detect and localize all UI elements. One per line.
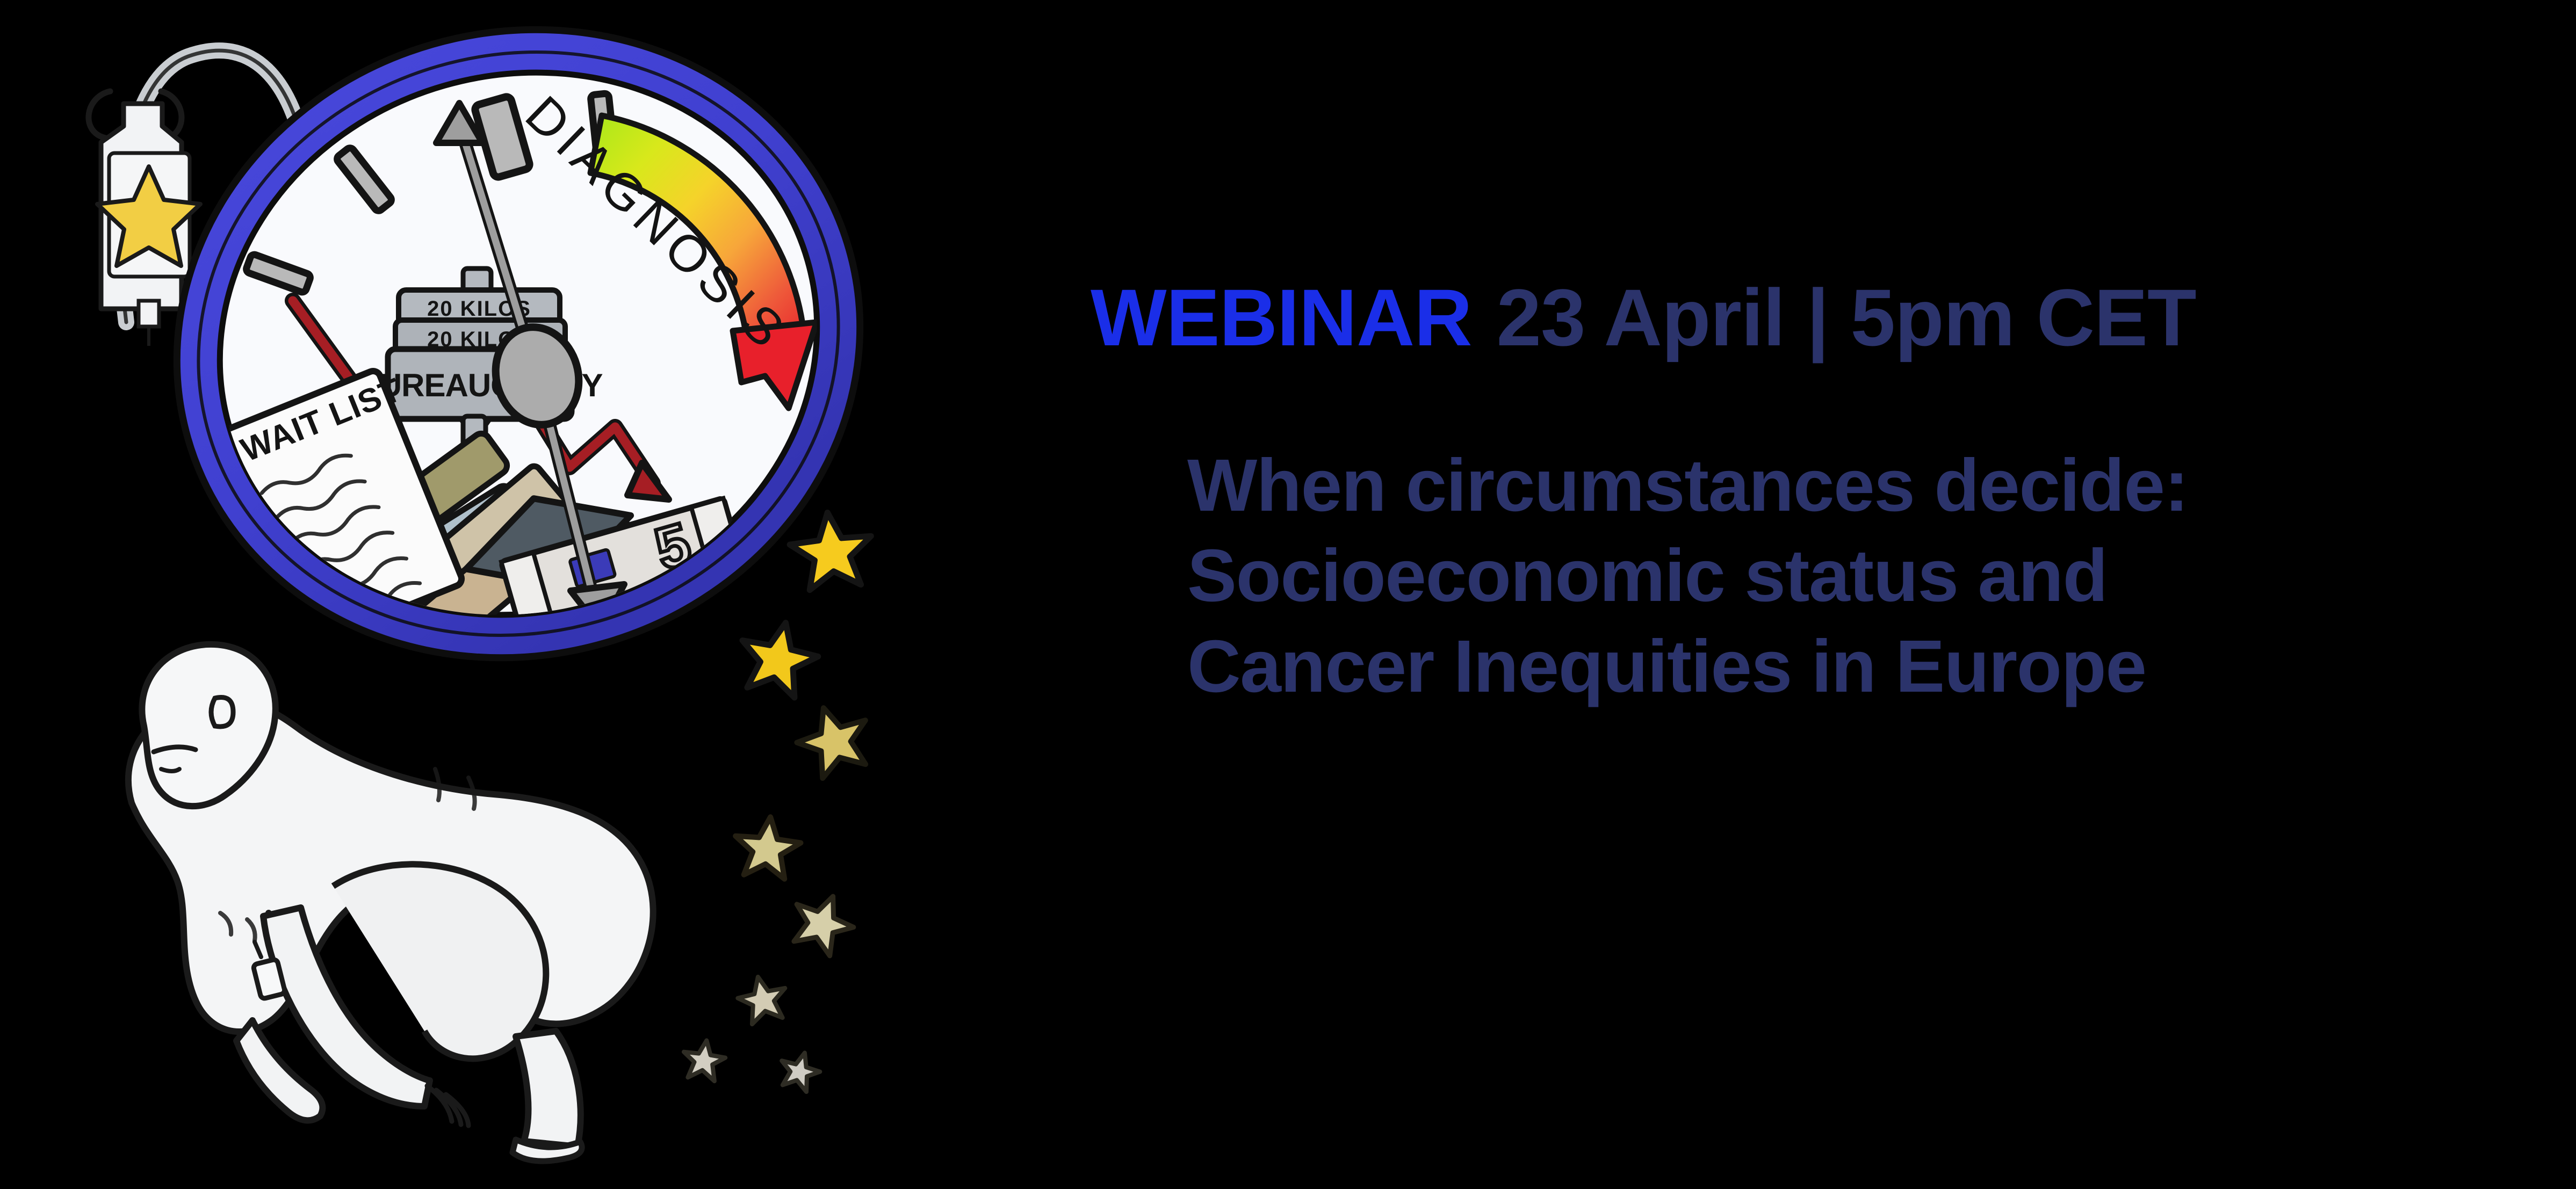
crouching-figure [128, 644, 653, 1161]
eu-star [681, 1038, 727, 1082]
eu-star [732, 814, 803, 880]
kicker-row: WEBINAR 23 April | 5pm CET [1091, 277, 2196, 358]
promo-text-block: WEBINAR 23 April | 5pm CET When circumst… [1091, 0, 2487, 1189]
event-datetime: 23 April | 5pm CET [1497, 277, 2196, 358]
eu-star [734, 972, 791, 1026]
eu-star [789, 697, 878, 782]
eu-star [733, 615, 824, 701]
alarm-clock-graphic: DIAGNOSIS [102, 0, 935, 738]
eu-star [783, 885, 861, 960]
eu-star [775, 1047, 824, 1094]
page-title: When circumstances decide: Socioeconomic… [1187, 440, 2188, 712]
webinar-label: WEBINAR [1091, 277, 1472, 358]
webinar-promo-banner: DIAGNOSIS [0, 0, 2576, 1189]
banknote-currency-3: EBPO [574, 652, 617, 678]
eu-star [787, 508, 876, 591]
cancer-inequities-clock-illustration: DIAGNOSIS [0, 0, 1074, 1189]
